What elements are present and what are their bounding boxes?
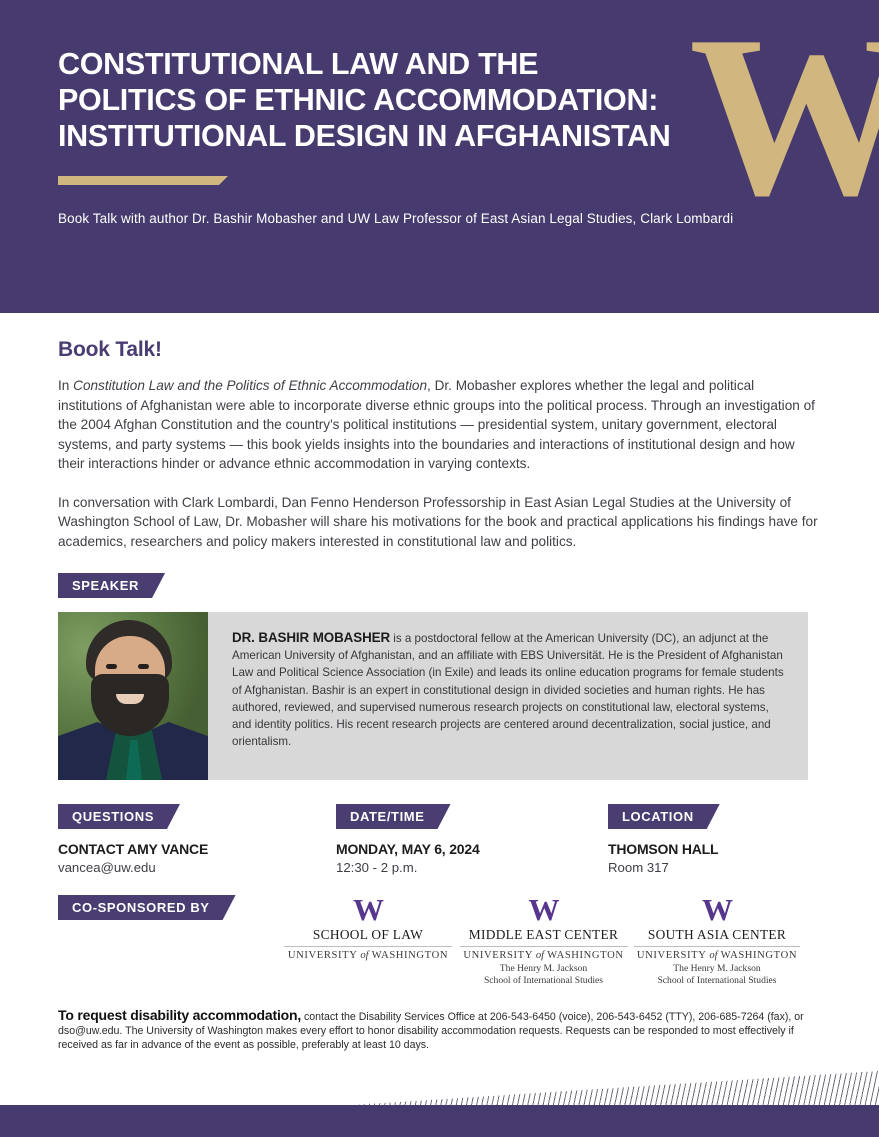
univ-pre: UNIVERSITY <box>637 950 706 961</box>
badge-questions: QUESTIONS <box>58 804 180 829</box>
footer-bar <box>0 1105 879 1137</box>
location-room: Room 317 <box>608 860 821 875</box>
logo-school-line: The Henry M. Jackson School of Internati… <box>456 963 631 986</box>
logo-university-line: UNIVERSITY of WASHINGTON <box>280 950 456 961</box>
univ-post: WASHINGTON <box>721 950 797 961</box>
univ-post: WASHINGTON <box>547 950 623 961</box>
speaker-block: DR. BASHIR MOBASHER is a postdoctoral fe… <box>58 612 808 780</box>
logo-middle-east-center: W MIDDLE EAST CENTER UNIVERSITY of WASHI… <box>456 892 631 986</box>
para1-lead: In <box>58 378 73 393</box>
location-building: THOMSON HALL <box>608 841 821 857</box>
speaker-bio-text: is a postdoctoral fellow at the American… <box>232 632 784 748</box>
questions-contact-email[interactable]: vancea@uw.edu <box>58 860 336 875</box>
main-content: Book Talk! In Constitution Law and the P… <box>0 338 879 1052</box>
info-column-questions: QUESTIONS CONTACT AMY VANCE vancea@uw.ed… <box>58 804 336 875</box>
description-paragraph-2: In conversation with Clark Lombardi, Dan… <box>58 493 821 552</box>
speaker-photo <box>58 612 208 780</box>
speaker-name: DR. BASHIR MOBASHER <box>232 630 390 645</box>
questions-contact-name: CONTACT AMY VANCE <box>58 841 336 857</box>
speaker-badge-row: SPEAKER <box>58 573 821 598</box>
logo-university-line: UNIVERSITY of WASHINGTON <box>631 950 803 961</box>
uw-w-icon: W <box>631 894 803 926</box>
info-columns: QUESTIONS CONTACT AMY VANCE vancea@uw.ed… <box>58 804 821 875</box>
event-date: MONDAY, MAY 6, 2024 <box>336 841 608 857</box>
header-banner: W CONSTITUTIONAL LAW AND THE POLITICS OF… <box>0 0 879 313</box>
event-time: 12:30 - 2 p.m. <box>336 860 608 875</box>
header-content: CONSTITUTIONAL LAW AND THE POLITICS OF E… <box>0 0 879 228</box>
photo-eye-left <box>106 664 117 669</box>
univ-post: WASHINGTON <box>372 950 448 961</box>
accessibility-lead: To request disability accommodation, <box>58 1007 301 1023</box>
gold-divider <box>58 176 228 185</box>
logo-divider <box>634 946 799 947</box>
logo-school-of-law: W SCHOOL OF LAW UNIVERSITY of WASHINGTON <box>280 892 456 961</box>
accessibility-notice: To request disability accommodation, con… <box>58 1008 821 1052</box>
logo-unit-name: SOUTH ASIA CENTER <box>631 927 803 943</box>
univ-pre: UNIVERSITY <box>463 950 532 961</box>
logo-south-asia-center: W SOUTH ASIA CENTER UNIVERSITY of WASHIN… <box>631 892 803 986</box>
logo-university-line: UNIVERSITY of WASHINGTON <box>456 950 631 961</box>
badge-speaker: SPEAKER <box>58 573 165 598</box>
event-flyer: W CONSTITUTIONAL LAW AND THE POLITICS OF… <box>0 0 879 1137</box>
logo-divider <box>284 946 453 947</box>
logo-unit-name: SCHOOL OF LAW <box>280 927 456 943</box>
badge-cosponsored-by: CO-SPONSORED BY <box>58 895 236 920</box>
univ-of: of <box>709 950 717 961</box>
page-title: CONSTITUTIONAL LAW AND THE POLITICS OF E… <box>58 46 678 154</box>
cosponsor-badge-cell: CO-SPONSORED BY <box>58 892 280 920</box>
book-title-italic: Constitution Law and the Politics of Eth… <box>73 378 427 393</box>
badge-location: LOCATION <box>608 804 720 829</box>
univ-of: of <box>536 950 544 961</box>
photo-eye-right <box>138 664 149 669</box>
decorative-stripes <box>330 1071 879 1105</box>
logo-unit-name: MIDDLE EAST CENTER <box>456 927 631 943</box>
badge-datetime: DATE/TIME <box>336 804 451 829</box>
logo-school-line: The Henry M. Jackson School of Internati… <box>631 963 803 986</box>
stripes-pattern <box>330 1071 879 1105</box>
univ-of: of <box>360 950 368 961</box>
info-column-datetime: DATE/TIME MONDAY, MAY 6, 2024 12:30 - 2 … <box>336 804 608 875</box>
uw-w-icon: W <box>280 894 456 926</box>
description-paragraph-1: In Constitution Law and the Politics of … <box>58 376 821 474</box>
section-heading-book-talk: Book Talk! <box>58 338 821 362</box>
logo-divider <box>460 946 628 947</box>
speaker-bio: DR. BASHIR MOBASHER is a postdoctoral fe… <box>208 612 808 780</box>
univ-pre: UNIVERSITY <box>288 950 357 961</box>
info-column-location: LOCATION THOMSON HALL Room 317 <box>608 804 821 875</box>
cosponsor-row: CO-SPONSORED BY W SCHOOL OF LAW UNIVERSI… <box>58 892 821 986</box>
uw-w-icon: W <box>456 894 631 926</box>
header-subtitle: Book Talk with author Dr. Bashir Mobashe… <box>58 209 879 228</box>
